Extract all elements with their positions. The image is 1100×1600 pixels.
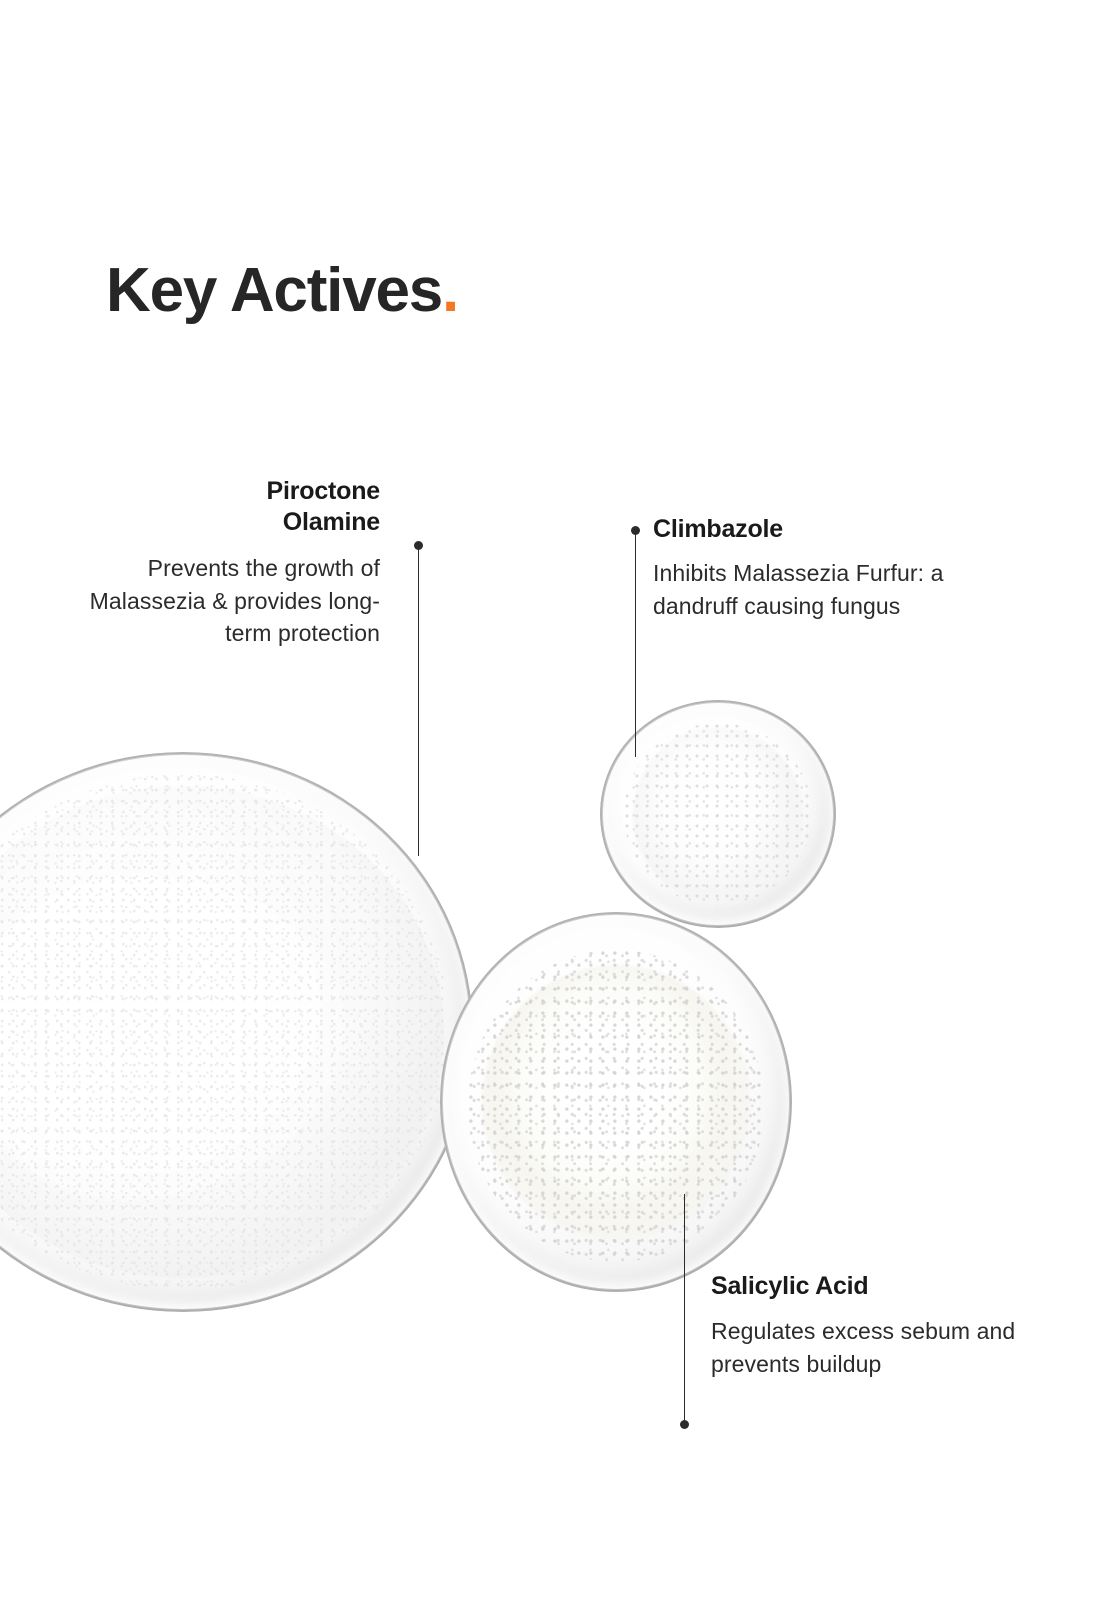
leader-line-salicylic-acid [684, 1194, 685, 1426]
callout-body-salicylic-acid: Regulates excess sebum and prevents buil… [711, 1315, 1051, 1380]
callout-title-line-2: Olamine [80, 507, 380, 538]
callout-body-piroctone-olamine: Prevents the growth of Malassezia & prov… [60, 552, 380, 650]
page-title-accent-dot: . [442, 256, 458, 325]
leader-dot-salicylic-acid [680, 1420, 689, 1429]
callout-title-salicylic-acid: Salicylic Acid [711, 1271, 1071, 1302]
petri-dish-piroctone-olamine-image [0, 752, 473, 1312]
callout-body-climbazole: Inhibits Malassezia Furfur: a dandruff c… [653, 557, 1023, 622]
leader-line-climbazole [635, 533, 636, 757]
callout-title-climbazole: Climbazole [653, 514, 1013, 545]
dish-rim [0, 752, 473, 1312]
callout-title-line-1: Piroctone [80, 476, 380, 507]
page-title-text: Key Actives [106, 256, 442, 325]
petri-dish-salicylic-acid-image [440, 912, 792, 1292]
callout-title-piroctone-olamine: Piroctone Olamine [80, 476, 380, 537]
dish-rim [440, 912, 792, 1292]
page-title: Key Actives. [106, 258, 458, 323]
key-actives-infographic: Key Actives. Piroctone Olamine Prevents … [0, 0, 1100, 1600]
leader-line-piroctone-olamine [418, 548, 419, 856]
